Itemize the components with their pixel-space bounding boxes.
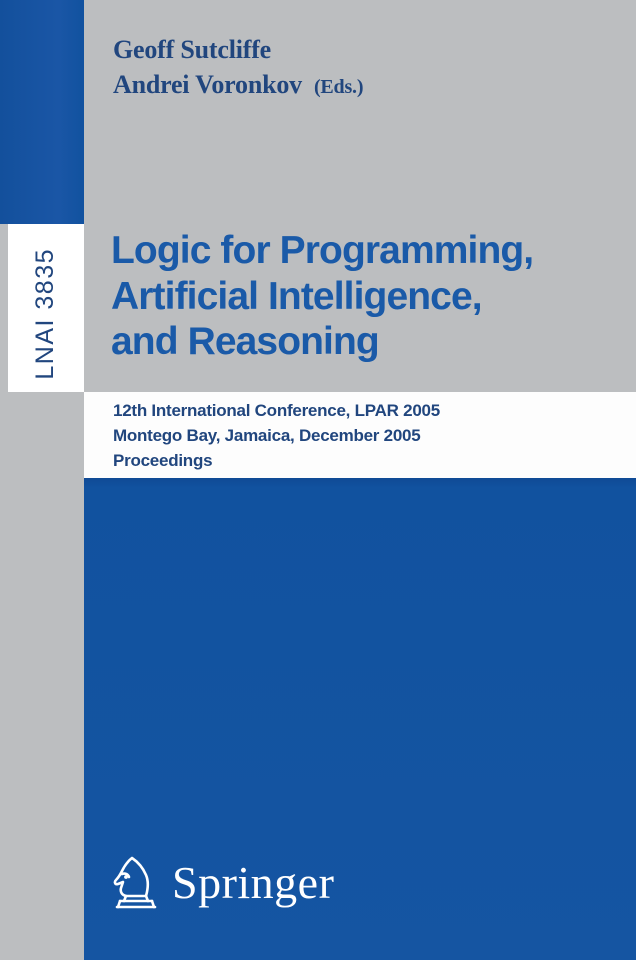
book-title: Logic for Programming, Artificial Intell… (111, 228, 631, 365)
conference-details: 12th International Conference, LPAR 2005… (113, 399, 613, 474)
springer-knight-icon (108, 852, 162, 914)
editors-block: Geoff Sutcliffe Andrei Voronkov(Eds.) (113, 33, 593, 103)
series-number-box: LNAI 3835 (8, 224, 84, 392)
subtitle-line-1: 12th International Conference, LPAR 2005 (113, 399, 613, 424)
subtitle-line-2: Montego Bay, Jamaica, December 2005 (113, 424, 613, 449)
series-number-label: LNAI 3835 (31, 248, 60, 380)
publisher-name: Springer (172, 860, 334, 906)
editor-name-2: Andrei Voronkov(Eds.) (113, 68, 593, 103)
editor-name-2-text: Andrei Voronkov (113, 70, 302, 99)
editor-name-1: Geoff Sutcliffe (113, 33, 593, 68)
subtitle-line-3: Proceedings (113, 449, 613, 474)
editor-name-1-text: Geoff Sutcliffe (113, 35, 271, 64)
publisher-logo: Springer (108, 852, 334, 914)
title-line-1: Logic for Programming, (111, 228, 631, 274)
background-gray-left-column (0, 392, 84, 960)
book-cover: LNAI 3835 Geoff Sutcliffe Andrei Voronko… (0, 0, 636, 960)
editors-suffix-label: (Eds.) (314, 76, 363, 98)
title-line-2: Artificial Intelligence, (111, 274, 631, 320)
title-line-3: and Reasoning (111, 319, 631, 365)
spine-blue-bar (0, 0, 84, 224)
